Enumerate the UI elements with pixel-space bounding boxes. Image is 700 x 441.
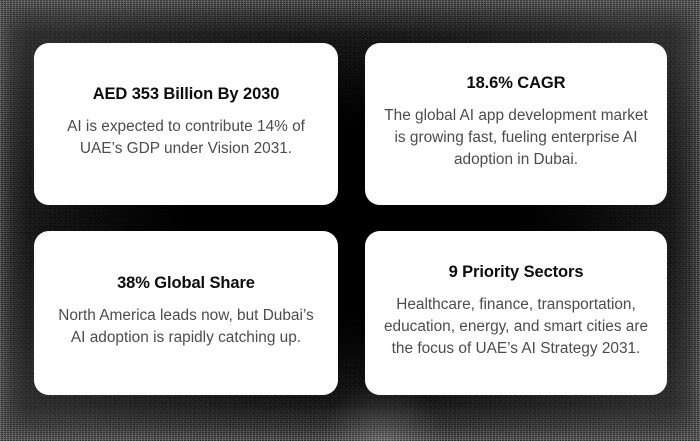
stat-card-title: 9 Priority Sectors [449, 262, 584, 283]
stat-card-title: AED 353 Billion By 2030 [93, 84, 280, 105]
stat-cards-screenshot: AED 353 Billion By 2030 AI is expected t… [0, 0, 700, 441]
stat-card-body: North America leads now, but Dubai’s AI … [52, 305, 320, 349]
stat-card-global-share[interactable]: 38% Global Share North America leads now… [34, 231, 338, 395]
stat-card-title: 18.6% CAGR [467, 73, 566, 94]
stat-card-body: The global AI app development market is … [379, 105, 653, 171]
stat-card-aed-353-billion[interactable]: AED 353 Billion By 2030 AI is expected t… [34, 43, 338, 205]
stat-card-cagr[interactable]: 18.6% CAGR The global AI app development… [365, 43, 667, 205]
stat-card-title: 38% Global Share [117, 273, 255, 294]
stat-card-body: Healthcare, finance, transportation, edu… [379, 294, 653, 360]
stat-card-grid: AED 353 Billion By 2030 AI is expected t… [34, 43, 667, 395]
stat-card-body: AI is expected to contribute 14% of UAE’… [48, 116, 324, 160]
stat-card-priority-sectors[interactable]: 9 Priority Sectors Healthcare, finance, … [365, 231, 667, 395]
